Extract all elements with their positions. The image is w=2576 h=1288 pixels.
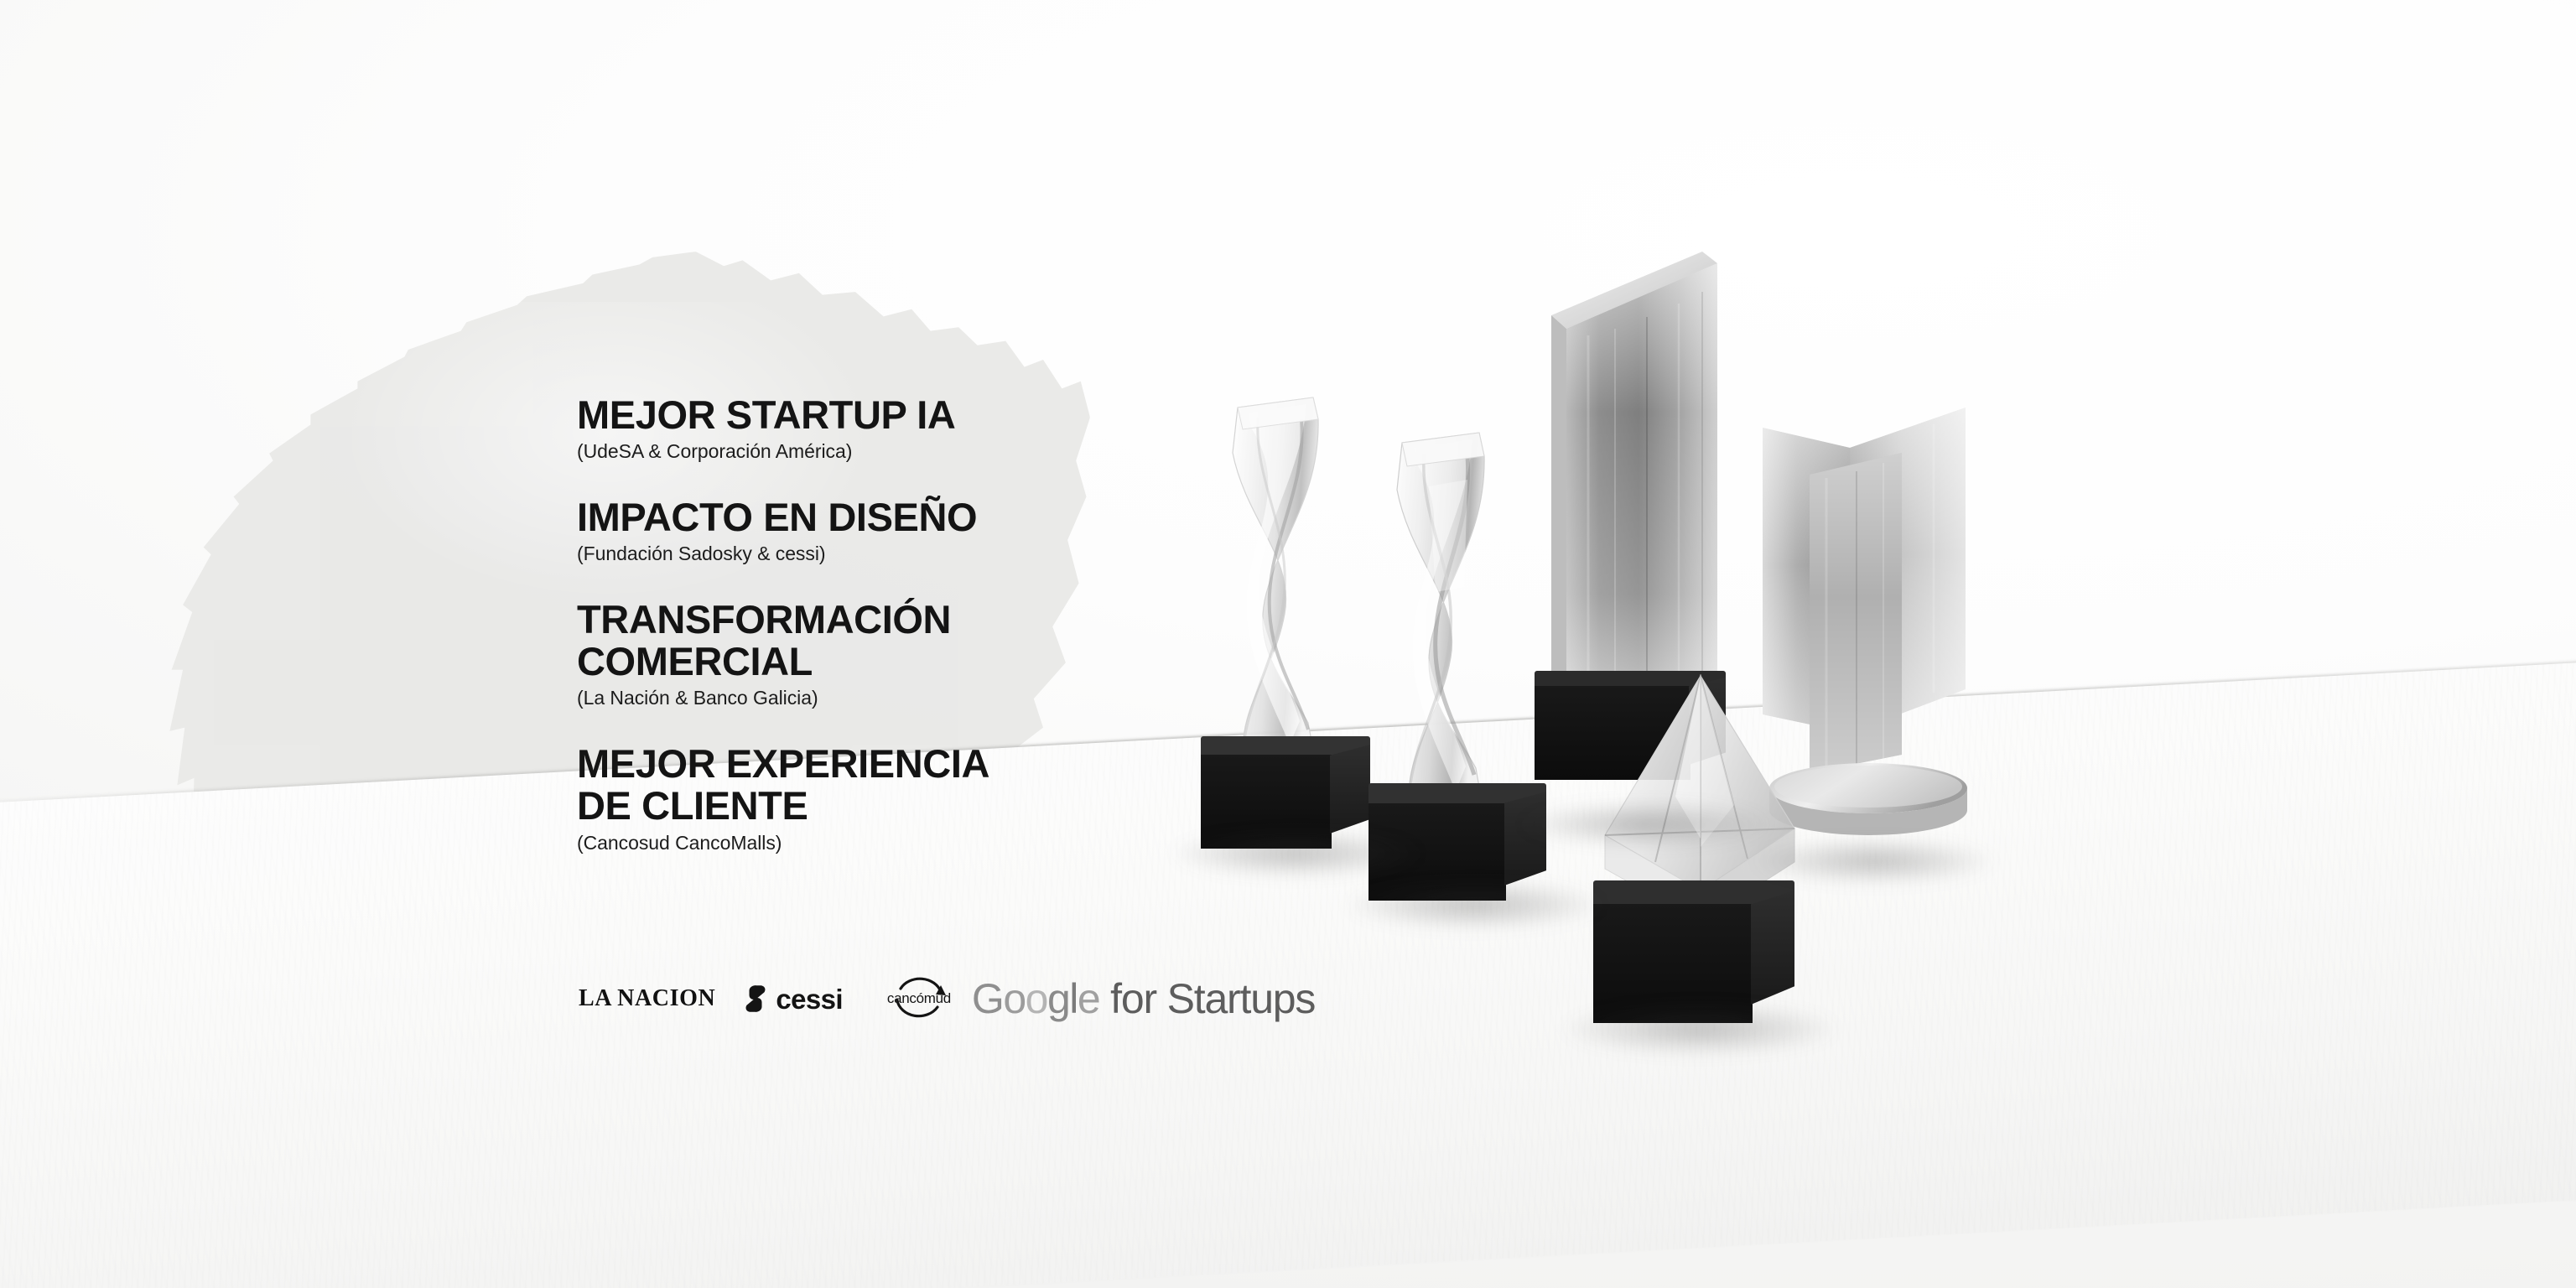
google-letter: e (1078, 978, 1099, 1020)
award-title: MEJOR EXPERIENCIA DE CLIENTE (577, 743, 1214, 828)
award-sponsors: (UdeSA & Corporación América) (577, 440, 1214, 463)
award-item-1: MEJOR STARTUP IA (UdeSA & Corporación Am… (577, 394, 1214, 463)
awards-list: MEJOR STARTUP IA (UdeSA & Corporación Am… (577, 394, 1214, 854)
awards-banner: MEJOR STARTUP IA (UdeSA & Corporación Am… (0, 0, 2576, 1288)
google-for-startups-logo: Google for Startups (972, 978, 1315, 1020)
google-wordmark: Google (972, 978, 1099, 1020)
award-title: TRANSFORMACIÓN COMERCIAL (577, 599, 1214, 683)
award-sponsors: (Cancosud CancoMalls) (577, 832, 1214, 854)
for-startups-text: for Startups (1110, 978, 1315, 1020)
award-sponsors: (Fundación Sadosky & cessi) (577, 543, 1214, 565)
google-letter: o (1003, 978, 1025, 1020)
cessi-mark-icon (743, 984, 768, 1013)
award-item-3: TRANSFORMACIÓN COMERCIAL (La Nación & Ba… (577, 599, 1214, 709)
cessi-wordmark: cessi (776, 985, 843, 1013)
award-title: IMPACTO EN DISEÑO (577, 496, 1214, 538)
award-title: MEJOR STARTUP IA (577, 394, 1214, 436)
cancomud-wordmark: cancómud (880, 991, 958, 1005)
award-sponsors: (La Nación & Banco Galicia) (577, 687, 1214, 709)
award-item-2: IMPACTO EN DISEÑO (Fundación Sadosky & c… (577, 496, 1214, 565)
google-letter: g (1047, 978, 1069, 1020)
google-letter: G (972, 978, 1003, 1020)
google-letter: o (1026, 978, 1047, 1020)
cessi-logo: cessi (743, 984, 843, 1013)
cancomud-logo: cancómud (880, 975, 958, 1022)
google-letter: l (1069, 978, 1078, 1020)
sponsor-logo-row: LA NACION cessi cancómud Google for Star… (579, 975, 1315, 1022)
award-item-4: MEJOR EXPERIENCIA DE CLIENTE (Cancosud C… (577, 743, 1214, 854)
la-nacion-logo: LA NACION (579, 987, 715, 1010)
